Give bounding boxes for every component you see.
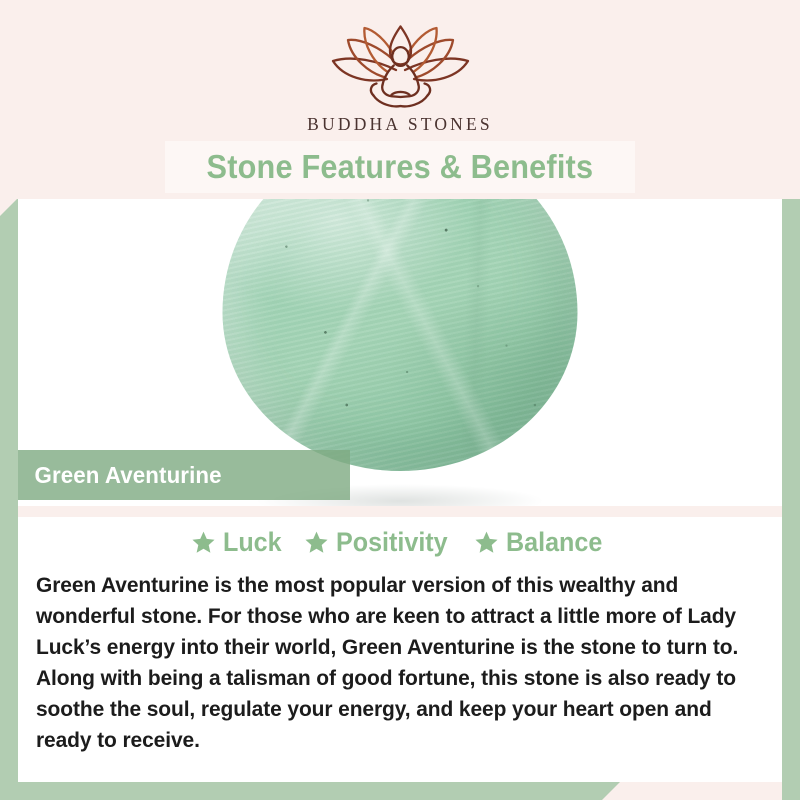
stone-name-text: Green Aventurine [18, 462, 222, 489]
star-icon [474, 530, 499, 555]
page-title: Stone Features & Benefits [207, 148, 594, 186]
description-paragraph: Green Aventurine is the most popular ver… [36, 570, 767, 756]
title-banner: Stone Features & Benefits [165, 141, 635, 193]
page-header: BUDDHA STONES Stone Features & Benefits [0, 0, 800, 199]
benefit-label: Balance [506, 527, 602, 558]
benefit-item: Balance [465, 527, 619, 558]
benefit-item: Positivity [295, 527, 465, 558]
frame-band-left [0, 198, 18, 800]
brand-logo: BUDDHA STONES [0, 22, 800, 135]
stone-description-card: Luck Positivity Balance Green Aventurine… [18, 517, 782, 782]
stone-name-label: Green Aventurine [18, 450, 350, 500]
benefit-label: Positivity [336, 527, 448, 558]
benefits-list: Luck Positivity Balance [36, 527, 764, 558]
benefit-item: Luck [182, 527, 295, 558]
aventurine-stone-shape [223, 199, 578, 471]
brand-name: BUDDHA STONES [307, 114, 493, 135]
frame-band-bottom [0, 782, 620, 800]
star-icon [191, 530, 216, 555]
lotus-meditation-icon [318, 22, 483, 110]
section-divider [18, 506, 782, 517]
star-icon [304, 530, 329, 555]
benefit-label: Luck [223, 527, 282, 558]
